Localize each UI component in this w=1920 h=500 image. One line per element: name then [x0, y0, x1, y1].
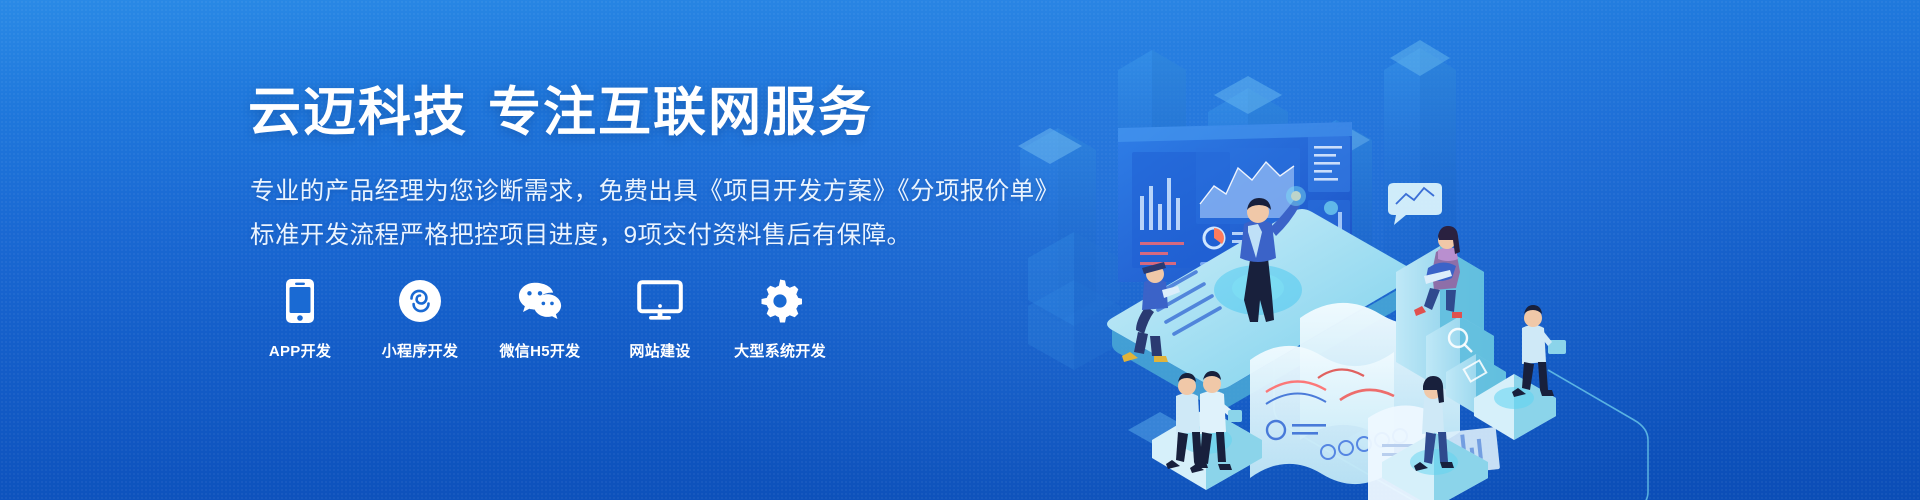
service-label-large-system: 大型系统开发	[734, 340, 826, 361]
service-label-app: APP开发	[269, 340, 331, 361]
gear-icon	[757, 278, 803, 324]
headline-brand: 云迈科技	[248, 83, 468, 142]
service-item-mini-program[interactable]: 小程序开发	[372, 278, 468, 361]
service-item-website[interactable]: 网站建设	[612, 278, 708, 361]
monitor-icon	[637, 278, 683, 324]
page-title: 云迈科技专注互联网服务	[248, 86, 873, 139]
wechat-icon	[517, 278, 563, 324]
mobile-phone-icon	[277, 278, 323, 324]
service-item-app[interactable]: APP开发	[252, 278, 348, 361]
service-label-website: 网站建设	[629, 340, 690, 361]
service-item-wechat-h5[interactable]: 微信H5开发	[492, 278, 588, 361]
service-label-wechat-h5: 微信H5开发	[500, 340, 581, 361]
service-list: APP开发 小程序开发	[252, 278, 828, 361]
headline-tagline: 专注互联网服务	[488, 83, 873, 142]
hero-banner: 云迈科技专注互联网服务 专业的产品经理为您诊断需求，免费出具《项目开发方案》《分…	[0, 0, 1920, 500]
service-label-mini-program: 小程序开发	[382, 340, 459, 361]
subtitle-line-2: 标准开发流程严格把控项目进度，9项交付资料售后有保障。	[250, 224, 911, 249]
service-item-large-system[interactable]: 大型系统开发	[732, 278, 828, 361]
mini-program-icon	[397, 278, 443, 324]
subtitle-line-1: 专业的产品经理为您诊断需求，免费出具《项目开发方案》《分项报价单》	[250, 180, 1059, 205]
banner-content: 云迈科技专注互联网服务 专业的产品经理为您诊断需求，免费出具《项目开发方案》《分…	[248, 0, 1148, 500]
